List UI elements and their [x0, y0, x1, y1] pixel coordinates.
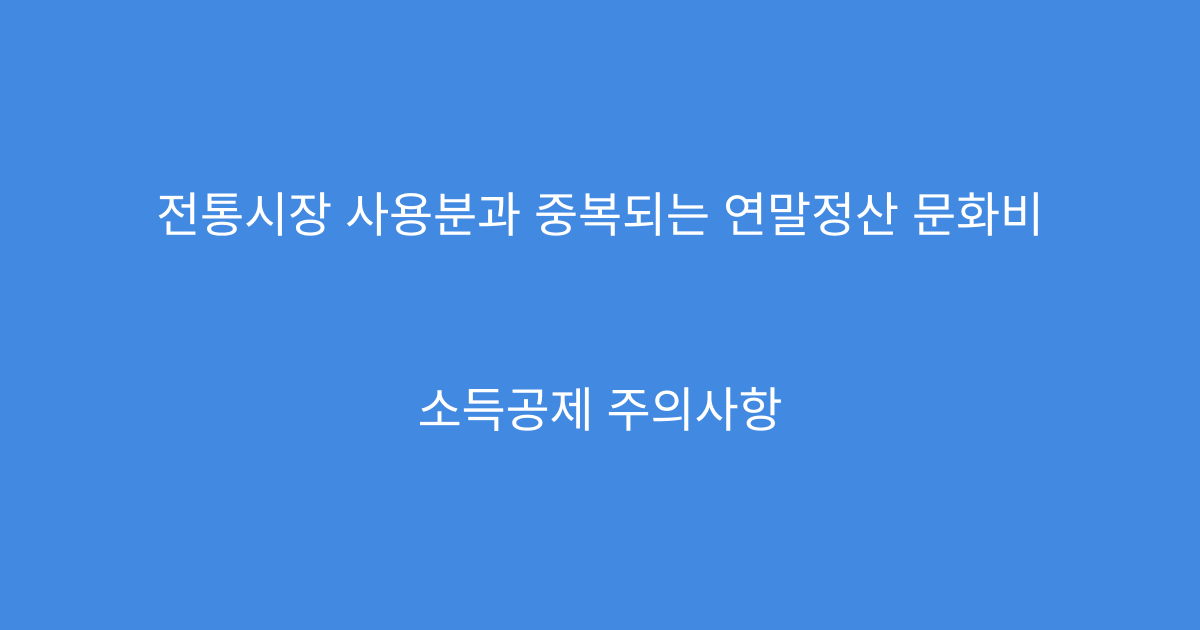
title-line-1: 전통시장 사용분과 중복되는 연말정산 문화비 — [56, 185, 1144, 250]
title-line-2: 소득공제 주의사항 — [56, 380, 1144, 445]
title-card: 전통시장 사용분과 중복되는 연말정산 문화비 소득공제 주의사항 — [0, 0, 1200, 630]
title-block: 전통시장 사용분과 중복되는 연말정산 문화비 소득공제 주의사항 — [0, 56, 1200, 574]
page-title: 전통시장 사용분과 중복되는 연말정산 문화비 소득공제 주의사항 — [56, 56, 1144, 574]
